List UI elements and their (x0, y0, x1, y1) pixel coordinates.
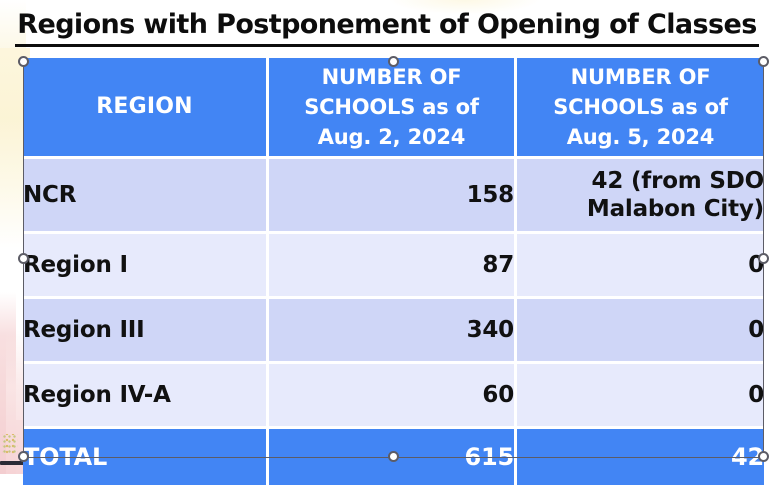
selection-handle-bottom-center[interactable] (388, 451, 399, 462)
cell-aug5: 0 (517, 364, 764, 429)
cell-aug2: 340 (269, 299, 517, 364)
cell-region: Region III (23, 299, 269, 364)
selection-handle-middle-right[interactable] (758, 253, 769, 264)
background-speckle-decoration (2, 434, 18, 454)
title-container: Regions with Postponement of Opening of … (0, 8, 774, 47)
column-header-aug5-line2: SCHOOLS as of (517, 92, 764, 122)
cell-aug2: 87 (269, 234, 517, 299)
table-header: REGION NUMBER OF SCHOOLS as of Aug. 2, 2… (23, 58, 764, 159)
cell-aug5: 0 (517, 234, 764, 299)
cell-aug5: 0 (517, 299, 764, 364)
page-title[interactable]: Regions with Postponement of Opening of … (15, 8, 758, 47)
cell-region: Region I (23, 234, 269, 299)
selection-handle-middle-left[interactable] (18, 253, 29, 264)
selection-handle-top-center[interactable] (388, 56, 399, 67)
column-header-region[interactable]: REGION (23, 58, 269, 159)
table-row[interactable]: Region IV-A 60 0 (23, 364, 764, 429)
postponement-table: REGION NUMBER OF SCHOOLS as of Aug. 2, 2… (23, 58, 764, 485)
column-header-aug5-line3: Aug. 5, 2024 (517, 122, 764, 152)
cell-aug5-line2: Malabon City) (517, 195, 764, 223)
table-row[interactable]: Region I 87 0 (23, 234, 764, 299)
selection-handle-bottom-left[interactable] (18, 451, 29, 462)
cell-aug2: 158 (269, 159, 517, 234)
column-header-aug2[interactable]: NUMBER OF SCHOOLS as of Aug. 2, 2024 (269, 58, 517, 159)
column-header-aug5-line1: NUMBER OF (517, 62, 764, 92)
cell-region: NCR (23, 159, 269, 234)
table-row[interactable]: NCR 158 42 (from SDO Malabon City) (23, 159, 764, 234)
table-container[interactable]: REGION NUMBER OF SCHOOLS as of Aug. 2, 2… (23, 58, 764, 485)
column-header-aug5[interactable]: NUMBER OF SCHOOLS as of Aug. 5, 2024 (517, 58, 764, 159)
table-row[interactable]: Region III 340 0 (23, 299, 764, 364)
table-header-row: REGION NUMBER OF SCHOOLS as of Aug. 2, 2… (23, 58, 764, 159)
selection-handle-top-right[interactable] (758, 56, 769, 67)
cell-aug5: 42 (from SDO Malabon City) (517, 159, 764, 234)
cell-region: Region IV-A (23, 364, 269, 429)
selection-handle-top-left[interactable] (18, 56, 29, 67)
column-header-aug2-line2: SCHOOLS as of (269, 92, 514, 122)
cell-aug5-line1: 42 (from SDO (517, 167, 764, 195)
table-body: NCR 158 42 (from SDO Malabon City) Regio… (23, 159, 764, 485)
selection-handle-bottom-right[interactable] (758, 451, 769, 462)
column-header-aug2-line3: Aug. 2, 2024 (269, 122, 514, 152)
cell-aug2: 60 (269, 364, 517, 429)
